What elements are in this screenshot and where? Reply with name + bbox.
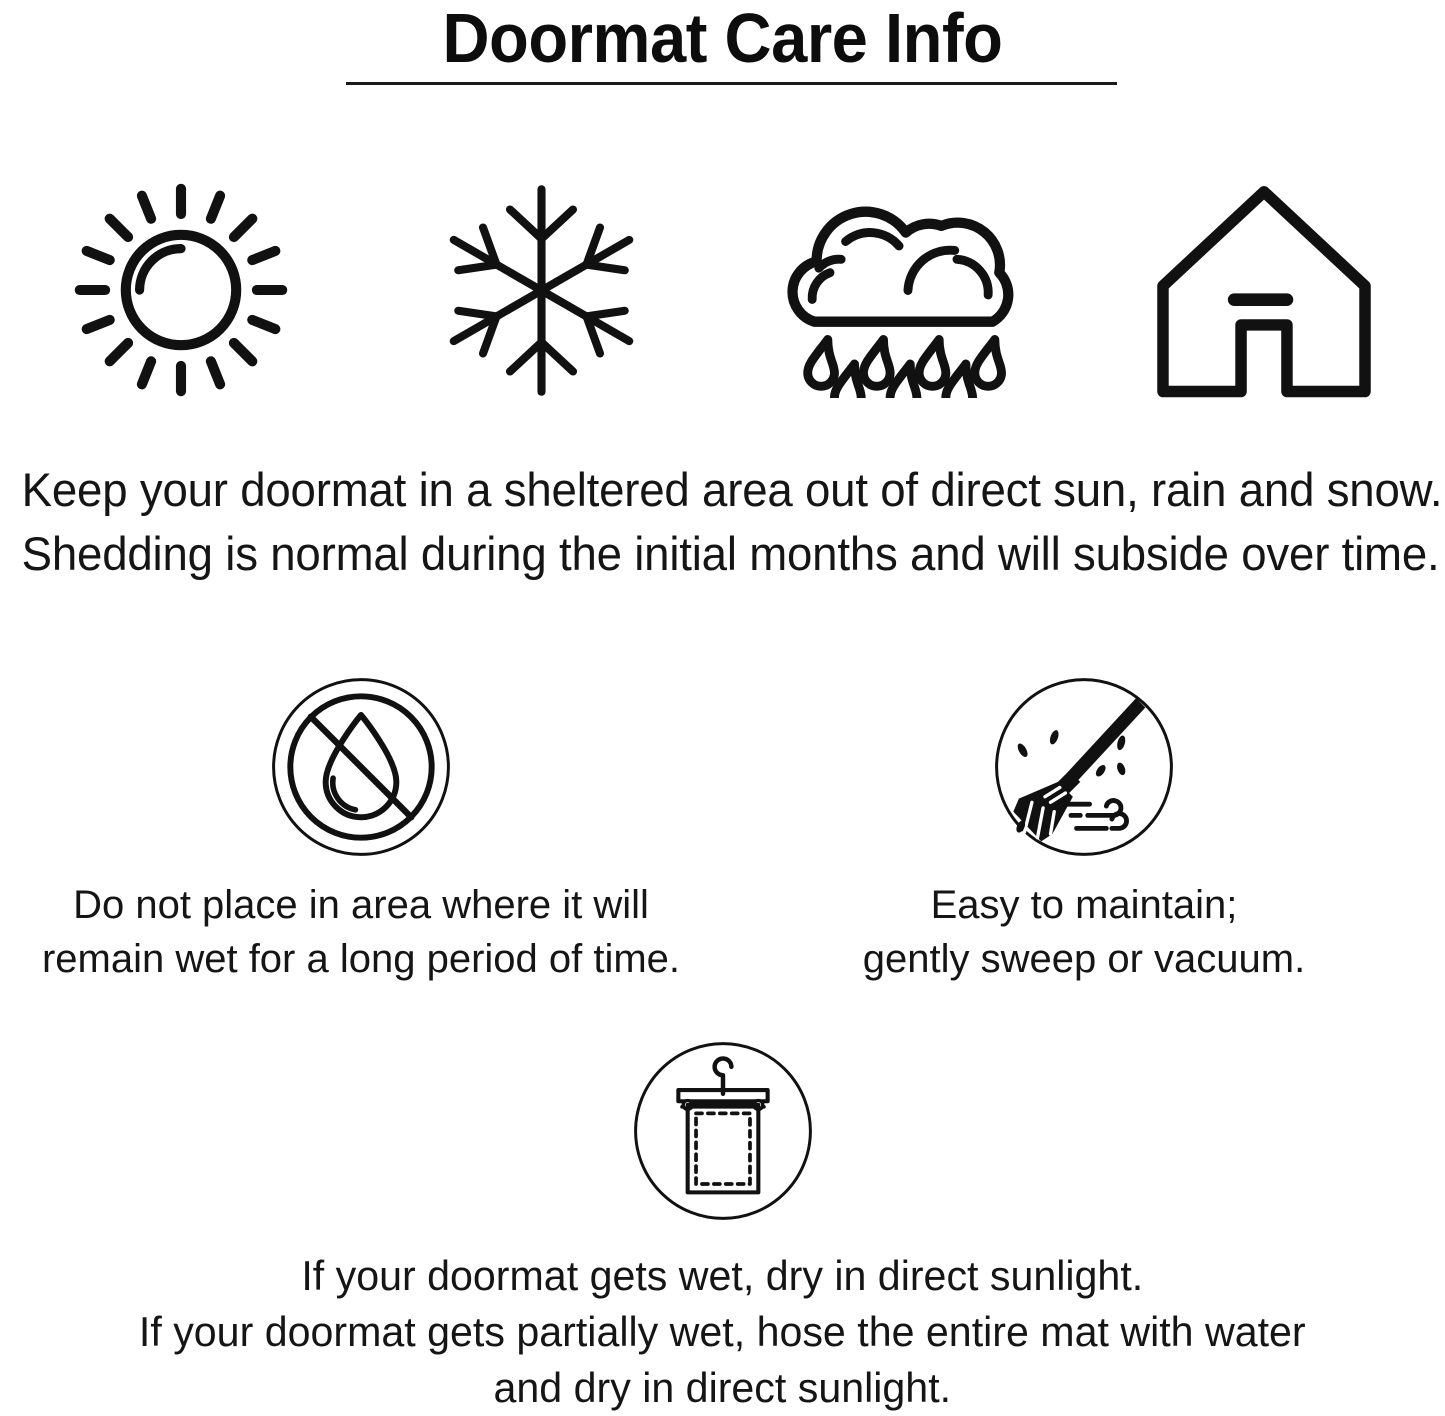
no-water-line-2: remain wet for a long period of time.	[42, 932, 680, 986]
page-title: Doormat Care Info	[51, 0, 1395, 76]
hang-dry-icon	[628, 1036, 818, 1226]
sweep-line-1: Easy to maintain;	[863, 878, 1305, 932]
drying-line-1: If your doormat gets wet, dry in direct …	[139, 1248, 1306, 1304]
sun-icon	[56, 165, 306, 415]
house-icon	[1139, 165, 1389, 415]
intro-line-2: Shedding is normal during the initial mo…	[22, 522, 1424, 586]
drying-line-3: and dry in direct sunlight.	[139, 1360, 1306, 1416]
title-divider	[346, 82, 1117, 85]
care-instructions-row: Do not place in area where it will remai…	[0, 672, 1445, 986]
no-water-caption: Do not place in area where it will remai…	[42, 878, 680, 986]
intro-line-1: Keep your doormat in a sheltered area ou…	[22, 458, 1424, 522]
care-item-sweep: Easy to maintain; gently sweep or vacuum…	[723, 672, 1445, 986]
sweep-line-2: gently sweep or vacuum.	[863, 932, 1305, 986]
drying-instructions: If your doormat gets wet, dry in direct …	[0, 1036, 1445, 1416]
snowflake-icon	[417, 165, 667, 415]
header: Doormat Care Info	[0, 0, 1445, 76]
care-item-no-water: Do not place in area where it will remai…	[0, 672, 722, 986]
intro-paragraph: Keep your doormat in a sheltered area ou…	[0, 458, 1445, 586]
drying-line-2: If your doormat gets partially wet, hose…	[139, 1304, 1306, 1360]
no-water-icon	[266, 672, 456, 862]
no-water-line-1: Do not place in area where it will	[42, 878, 680, 932]
sweep-caption: Easy to maintain; gently sweep or vacuum…	[863, 878, 1305, 986]
broom-icon	[989, 672, 1179, 862]
weather-icon-row	[0, 165, 1445, 415]
drying-caption: If your doormat gets wet, dry in direct …	[127, 1248, 1318, 1416]
rain-cloud-icon	[778, 165, 1028, 415]
